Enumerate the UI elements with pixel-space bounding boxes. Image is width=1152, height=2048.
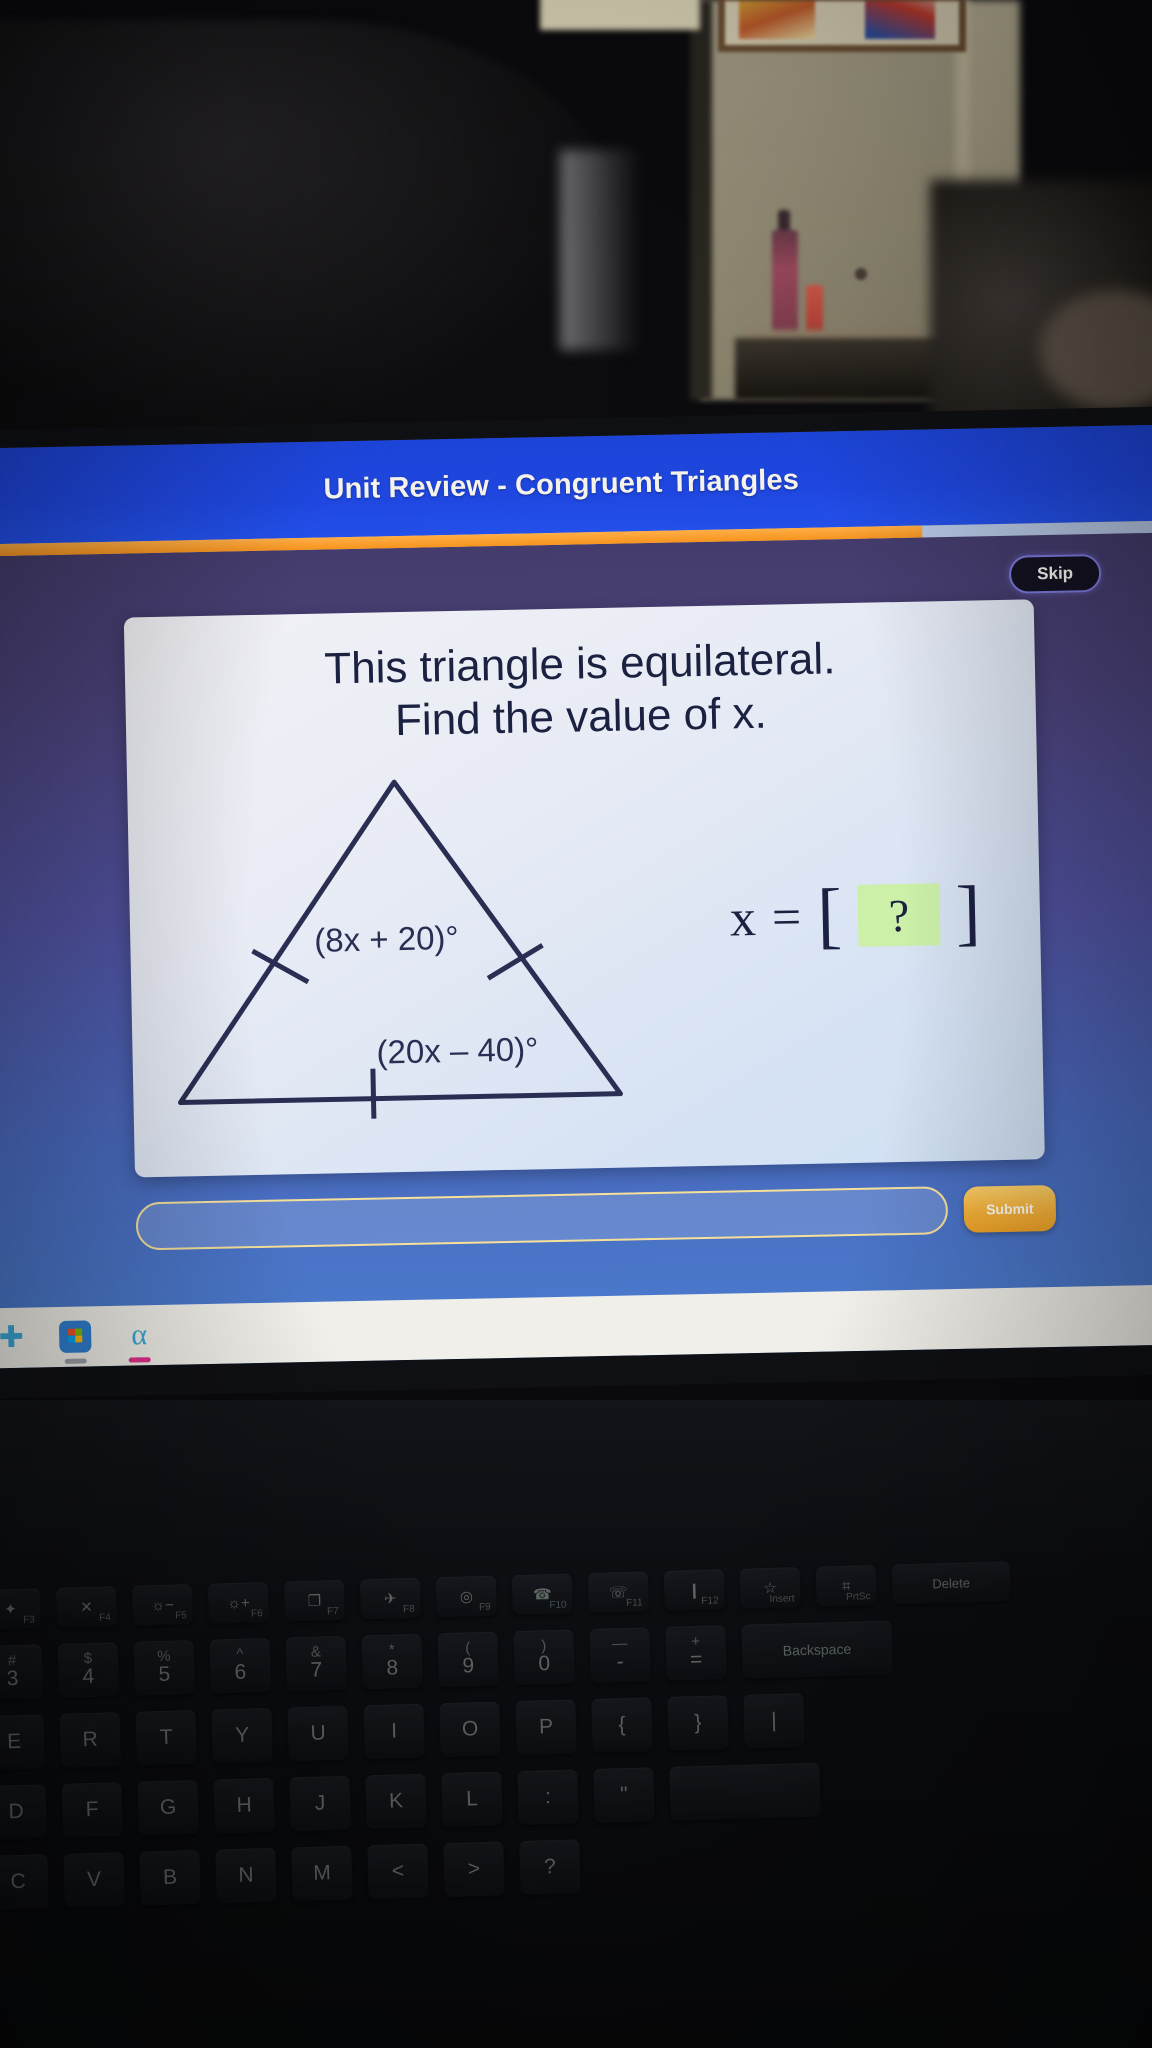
key-backslash[interactable]: |	[743, 1693, 804, 1749]
key-sublabel: F8	[403, 1604, 415, 1615]
key-n[interactable]: N	[215, 1848, 276, 1904]
key-glyph: 3	[6, 1668, 18, 1690]
key-glyph: ?	[544, 1856, 556, 1878]
equals-sign: =	[771, 888, 802, 948]
key-u[interactable]: U	[287, 1706, 348, 1762]
key-glyph: ◎	[460, 1587, 474, 1605]
key-glyph: 9	[462, 1656, 474, 1678]
key-glyph: V	[87, 1869, 102, 1891]
key-f9[interactable]: ◎ F9	[436, 1576, 497, 1618]
key-glyph: :	[545, 1786, 551, 1808]
key-glyph: <	[392, 1860, 405, 1882]
key-glyph: 5	[158, 1664, 170, 1686]
key-glyph: O	[462, 1718, 479, 1740]
key-glyph: -	[616, 1652, 624, 1674]
key-r[interactable]: R	[59, 1712, 120, 1768]
key-minus[interactable]: — -	[589, 1627, 650, 1683]
key-sublabel: F9	[479, 1602, 491, 1613]
number-key-row: # 3 $ 4 % 5 ^ 6 & 7	[0, 1612, 1152, 1699]
sofa-highlight	[560, 150, 640, 350]
key-9[interactable]: ( 9	[437, 1632, 498, 1688]
key-shift-glyph: —	[612, 1636, 627, 1651]
key-t[interactable]: T	[135, 1710, 196, 1766]
laptop-lid: Unit Review - Congruent Triangles Skip T…	[0, 407, 1152, 1430]
key-h[interactable]: H	[213, 1778, 274, 1834]
key-5[interactable]: % 5	[134, 1640, 195, 1696]
key-glyph: I	[391, 1720, 397, 1742]
key-0[interactable]: ) 0	[513, 1629, 574, 1685]
key-shift-glyph: &	[311, 1645, 321, 1660]
key-j[interactable]: J	[289, 1776, 350, 1832]
door-frame	[690, 0, 712, 400]
key-glyph: L	[466, 1788, 478, 1810]
key-glyph: N	[238, 1864, 254, 1886]
key-v[interactable]: V	[63, 1852, 124, 1908]
key-glyph: ✦	[4, 1600, 17, 1618]
key-y[interactable]: Y	[211, 1708, 272, 1764]
keyboard: ✦ F3 ✕ F4 ☼− F5 ☼+ F6 ❐ F7	[0, 1556, 1152, 1925]
framed-picture	[718, 0, 966, 52]
key-sublabel: F7	[327, 1606, 339, 1617]
variable-x-label: x	[729, 888, 756, 948]
key-glyph: "	[620, 1784, 628, 1806]
key-shift-glyph: ^	[236, 1647, 243, 1662]
key-sublabel: F11	[626, 1598, 643, 1609]
key-delete[interactable]: Delete	[892, 1561, 1011, 1604]
bracket-left: [	[817, 887, 843, 947]
angle-label-bottom-right: (20x – 40)°	[376, 1030, 538, 1070]
key-glyph: 4	[82, 1666, 94, 1688]
key-f3[interactable]: ✦ F3	[0, 1588, 41, 1630]
key-slash[interactable]: ?	[519, 1839, 580, 1895]
key-o[interactable]: O	[439, 1702, 500, 1758]
key-bracket-right[interactable]: }	[667, 1695, 728, 1751]
key-glyph: |	[771, 1710, 777, 1732]
microsoft-store-icon[interactable]	[56, 1317, 95, 1356]
shelf-clutter	[735, 338, 950, 400]
key-glyph: J	[315, 1792, 326, 1814]
key-equals[interactable]: + =	[665, 1625, 726, 1681]
key-glyph: Delete	[932, 1575, 970, 1591]
answer-placeholder-box[interactable]: ?	[857, 883, 940, 947]
question-card: This triangle is equilateral. Find the v…	[124, 599, 1045, 1177]
key-glyph: U	[310, 1722, 326, 1744]
key-sublabel: F12	[701, 1595, 719, 1606]
key-k[interactable]: K	[365, 1774, 426, 1830]
key-f5[interactable]: ☼− F5	[132, 1584, 193, 1626]
windows-taskbar: ✚ α	[0, 1285, 1152, 1369]
key-glyph: }	[694, 1712, 702, 1734]
key-glyph: B	[163, 1867, 178, 1889]
question-prompt: This triangle is equilateral. Find the v…	[124, 629, 1036, 753]
artwork-left	[739, 0, 815, 39]
key-backspace[interactable]: Backspace	[741, 1621, 892, 1679]
skip-button[interactable]: Skip	[1009, 554, 1102, 594]
tick-mark-base	[373, 1069, 374, 1123]
microsoft-edge-icon[interactable]: α	[120, 1316, 159, 1355]
key-glyph: P	[539, 1716, 554, 1738]
laptop-base: ✦ F3 ✕ F4 ☼− F5 ☼+ F6 ❐ F7	[0, 1400, 1152, 2048]
app-screen: Unit Review - Congruent Triangles Skip T…	[0, 425, 1152, 1369]
key-shift-glyph: (	[465, 1641, 470, 1656]
key-shift-glyph: +	[691, 1634, 700, 1649]
key-glyph: F	[85, 1799, 98, 1821]
answer-expression: x = [ ? ]	[729, 882, 981, 949]
key-shift-glyph: *	[389, 1643, 395, 1658]
key-glyph: H	[236, 1794, 252, 1816]
key-glyph: ☼+	[227, 1594, 250, 1612]
key-glyph: ❙	[688, 1581, 701, 1599]
key-f[interactable]: F	[61, 1782, 122, 1838]
key-glyph: ❐	[307, 1591, 321, 1609]
figure-row: (8x + 20)° (20x – 40)° x = [ ? ]	[127, 755, 1045, 1173]
key-period[interactable]: >	[443, 1841, 504, 1897]
key-glyph: G	[160, 1797, 177, 1819]
key-glyph: M	[313, 1862, 331, 1885]
laptop-photo: Unit Review - Congruent Triangles Skip T…	[0, 0, 1152, 2048]
wall-hook	[855, 268, 867, 280]
page-title: Unit Review - Congruent Triangles	[323, 463, 799, 506]
key-glyph: ☼−	[151, 1596, 174, 1614]
key-glyph: Backspace	[783, 1641, 852, 1659]
key-7[interactable]: & 7	[285, 1636, 346, 1692]
key-glyph: 0	[538, 1654, 550, 1676]
key-shift-glyph: #	[8, 1653, 17, 1668]
key-g[interactable]: G	[137, 1780, 198, 1836]
key-4[interactable]: $ 4	[58, 1642, 119, 1698]
key-f8[interactable]: ✈ F8	[360, 1578, 421, 1620]
key-bracket-left[interactable]: {	[591, 1697, 652, 1753]
key-glyph: {	[618, 1714, 626, 1736]
key-glyph: K	[389, 1790, 404, 1812]
answer-entry-row: Submit	[135, 1179, 1056, 1255]
key-d[interactable]: D	[0, 1784, 47, 1840]
key-glyph: =	[690, 1649, 703, 1671]
key-sublabel: Insert	[769, 1593, 794, 1605]
key-glyph: Y	[235, 1725, 250, 1747]
key-glyph: 8	[386, 1658, 398, 1680]
framed-picture-left	[540, 0, 700, 30]
key-c[interactable]: C	[0, 1854, 49, 1910]
key-shift-glyph: )	[541, 1639, 546, 1654]
windows-ink-workspace-icon[interactable]: ✚	[0, 1319, 31, 1358]
key-f4[interactable]: ✕ F4	[56, 1586, 117, 1628]
equilateral-triangle-figure: (8x + 20)° (20x – 40)°	[159, 763, 636, 1122]
top-letter-key-row: E R T Y U I O P { } |	[0, 1682, 1152, 1769]
key-f7[interactable]: ❐ F7	[284, 1580, 345, 1622]
key-sublabel: F4	[99, 1612, 111, 1623]
key-glyph: D	[8, 1801, 24, 1823]
key-m[interactable]: M	[291, 1846, 352, 1902]
pump-bottle	[772, 230, 798, 342]
key-f6[interactable]: ☼+ F6	[208, 1582, 269, 1624]
key-glyph: 7	[310, 1660, 322, 1682]
home-letter-key-row: D F G H J K L : "	[0, 1752, 1152, 1839]
answer-input[interactable]	[136, 1186, 949, 1250]
key-glyph: E	[7, 1731, 22, 1753]
room-background	[0, 0, 1152, 470]
key-sublabel: F6	[251, 1608, 263, 1619]
key-i[interactable]: I	[363, 1704, 424, 1760]
key-glyph: T	[159, 1727, 172, 1749]
key-e[interactable]: E	[0, 1714, 45, 1770]
key-sublabel: PrtSc	[846, 1591, 871, 1603]
key-6[interactable]: ^ 6	[209, 1638, 270, 1694]
key-printscreen[interactable]: ⌗ PrtSc	[816, 1565, 877, 1607]
bottom-letter-key-row: C V B N M < > ?	[0, 1822, 1152, 1909]
key-b[interactable]: B	[139, 1850, 200, 1906]
key-p[interactable]: P	[515, 1699, 576, 1755]
key-semicolon[interactable]: :	[517, 1769, 578, 1825]
key-quote[interactable]: "	[593, 1767, 654, 1823]
key-enter[interactable]	[669, 1763, 820, 1821]
key-glyph: ✕	[80, 1598, 93, 1616]
key-8[interactable]: * 8	[361, 1634, 422, 1690]
key-glyph: C	[10, 1871, 26, 1893]
key-f10[interactable]: ☎ F10	[512, 1573, 573, 1615]
key-l[interactable]: L	[441, 1772, 502, 1828]
key-glyph: R	[82, 1729, 98, 1751]
artwork-right	[865, 0, 935, 39]
angle-label-top: (8x + 20)°	[314, 919, 459, 959]
submit-button[interactable]: Submit	[963, 1185, 1056, 1233]
screen-bezel: Unit Review - Congruent Triangles Skip T…	[0, 406, 1152, 1398]
key-f11[interactable]: ☏ F11	[588, 1571, 649, 1613]
key-comma[interactable]: <	[367, 1844, 428, 1900]
key-3[interactable]: # 3	[0, 1644, 43, 1700]
key-insert[interactable]: ☆ Insert	[740, 1567, 801, 1609]
bracket-right: ]	[955, 884, 981, 944]
key-sublabel: F5	[175, 1610, 187, 1621]
key-glyph: >	[468, 1858, 481, 1880]
key-glyph: 6	[234, 1662, 246, 1684]
key-f12[interactable]: ❙ F12	[664, 1569, 725, 1611]
key-shift-glyph: $	[84, 1651, 93, 1666]
sofa-silhouette	[0, 20, 620, 440]
key-sublabel: F3	[23, 1614, 35, 1625]
key-glyph: ✈	[384, 1589, 397, 1607]
key-sublabel: F10	[549, 1600, 567, 1611]
